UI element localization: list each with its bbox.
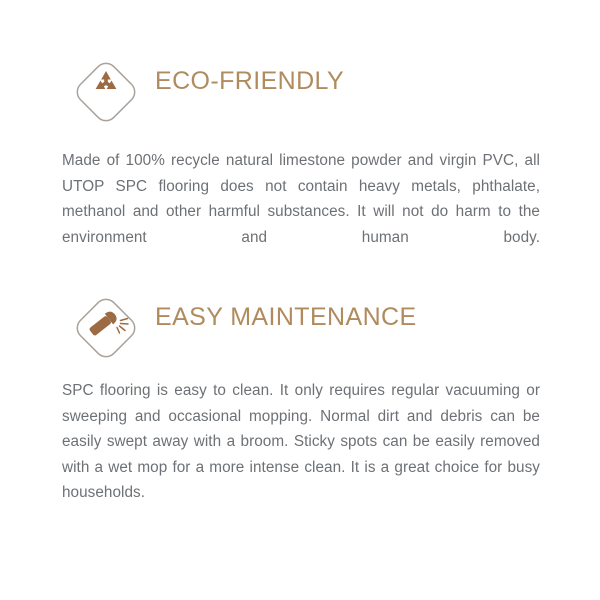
feature-body-easy-maintenance: SPC flooring is easy to clean. It only r… <box>62 378 540 532</box>
feature-body-wrapper: Made of 100% recycle natural limestone p… <box>62 148 540 276</box>
feature-list-page: ECO-FRIENDLY Made of 100% recycle natura… <box>0 0 600 600</box>
feature-section-eco-friendly: ECO-FRIENDLY Made of 100% recycle natura… <box>0 50 600 130</box>
feature-body-wrapper: SPC flooring is easy to clean. It only r… <box>62 378 540 532</box>
feature-title-easy-maintenance: EASY MAINTENANCE <box>155 298 417 336</box>
feature-body-eco-friendly: Made of 100% recycle natural limestone p… <box>62 148 540 276</box>
feature-header: ECO-FRIENDLY <box>0 50 600 130</box>
feature-header: EASY MAINTENANCE <box>0 286 600 366</box>
recycle-flooring-icon <box>70 56 142 128</box>
broom-flooring-icon <box>70 292 142 364</box>
feature-title-eco-friendly: ECO-FRIENDLY <box>155 62 344 100</box>
feature-section-easy-maintenance: EASY MAINTENANCE SPC flooring is easy to… <box>0 286 600 366</box>
